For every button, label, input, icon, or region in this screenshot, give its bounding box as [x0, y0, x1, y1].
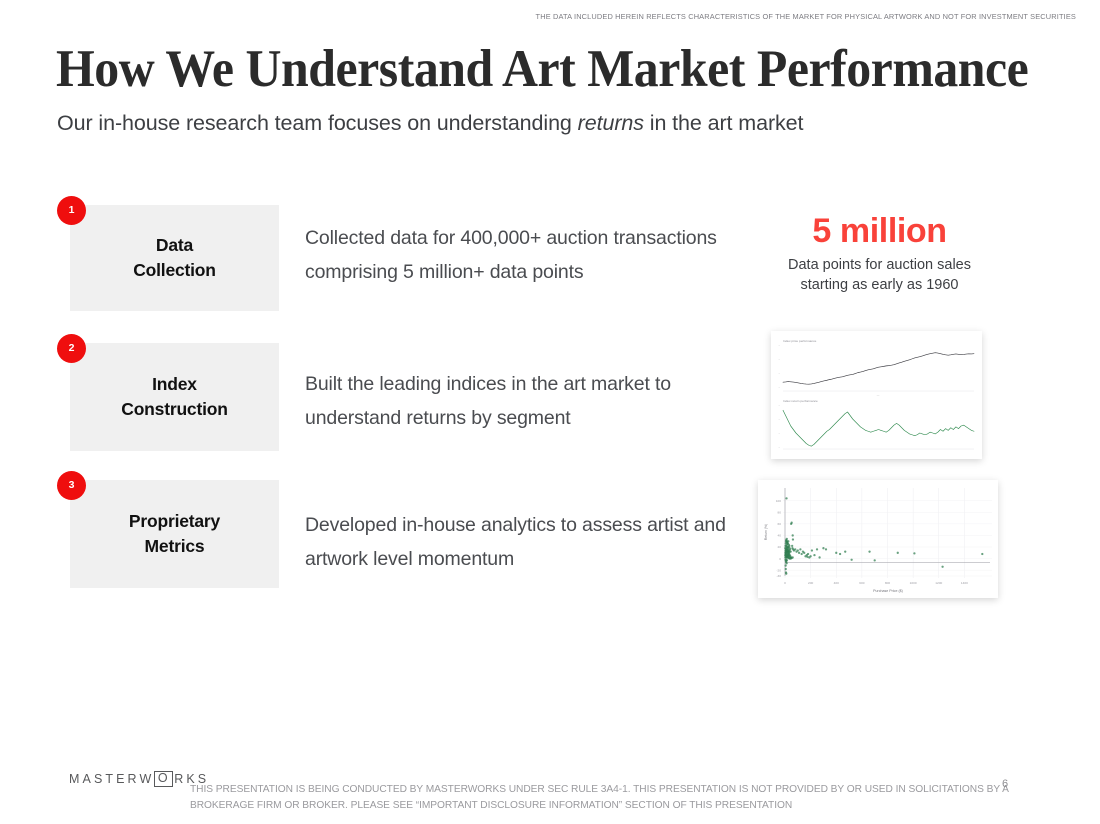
svg-text:60: 60 [778, 522, 782, 526]
step-label-box-1: Data Collection [70, 205, 279, 311]
svg-text:Purchase Price ($): Purchase Price ($) [873, 589, 903, 593]
step-badge-1: 1 [57, 196, 86, 225]
line-charts-svg: Index price performance Index return per… [771, 331, 982, 459]
step-label-box-2: Index Construction [70, 343, 279, 451]
subtitle-text-after: in the art market [644, 111, 804, 135]
step-body-2: Built the leading indices in the art mar… [305, 368, 757, 435]
svg-text:–: – [779, 446, 781, 449]
logo-boxed-o: O [154, 771, 173, 787]
subtitle-text-before: Our in-house research team focuses on un… [57, 111, 578, 135]
step-label-box-3: Proprietary Metrics [70, 480, 279, 588]
svg-text:0: 0 [779, 557, 781, 561]
returns-scatter-thumbnail: 0200400600800100012001400 -30-2002040608… [758, 480, 998, 598]
step-badge-3: 3 [57, 471, 86, 500]
svg-text:-20: -20 [777, 568, 782, 572]
svg-text:40: 40 [778, 534, 782, 538]
stat-value: 5 million [752, 212, 1007, 251]
index-line-charts-thumbnail: Index price performance Index return per… [771, 331, 982, 459]
step-body-3: Developed in-house analytics to assess a… [305, 509, 757, 576]
svg-text:–: – [779, 358, 781, 361]
svg-text:80: 80 [778, 510, 782, 514]
step-label-1: Data Collection [133, 233, 216, 284]
svg-text:–: – [779, 344, 781, 347]
page-number: 6 [1002, 778, 1008, 790]
page-subtitle: Our in-house research team focuses on un… [57, 110, 803, 138]
svg-text:—: — [877, 395, 880, 398]
svg-text:1000: 1000 [910, 581, 917, 585]
scatter-chart-svg: 0200400600800100012001400 -30-2002040608… [758, 480, 998, 598]
step-body-1: Collected data for 400,000+ auction tran… [305, 222, 757, 289]
svg-text:800: 800 [885, 581, 890, 585]
stat-caption: Data points for auction sales starting a… [752, 256, 1007, 295]
page-title: How We Understand Art Market Performance [56, 42, 1028, 98]
svg-text:100: 100 [776, 499, 781, 503]
svg-text:600: 600 [859, 581, 864, 585]
svg-text:–: – [779, 372, 781, 375]
step-label-3: Proprietary Metrics [129, 509, 220, 560]
slide: THE DATA INCLUDED HEREIN REFLECTS CHARAC… [0, 0, 1100, 824]
svg-text:0: 0 [784, 581, 786, 585]
svg-text:1200: 1200 [935, 581, 942, 585]
svg-text:Return (%): Return (%) [764, 524, 768, 540]
stat-callout: 5 million Data points for auction sales … [752, 212, 1007, 295]
svg-text:–: – [779, 404, 781, 407]
logo-text-part-1: MASTERW [69, 772, 154, 786]
svg-text:400: 400 [834, 581, 839, 585]
masterworks-logo: MASTERWORKS [69, 771, 209, 787]
top-disclaimer: THE DATA INCLUDED HEREIN REFLECTS CHARAC… [536, 12, 1076, 21]
svg-text:–: – [779, 386, 781, 389]
step-label-2: Index Construction [121, 372, 227, 423]
svg-text:-30: -30 [777, 574, 782, 578]
svg-text:Index price performance: Index price performance [783, 339, 817, 343]
svg-text:–: – [779, 418, 781, 421]
svg-text:1400: 1400 [961, 581, 968, 585]
footer-disclaimer: THIS PRESENTATION IS BEING CONDUCTED BY … [190, 782, 1048, 814]
svg-text:–: – [779, 432, 781, 435]
step-badge-2: 2 [57, 334, 86, 363]
subtitle-emphasis: returns [578, 111, 644, 135]
svg-text:20: 20 [778, 545, 782, 549]
svg-text:Index return performance: Index return performance [783, 399, 818, 403]
svg-text:200: 200 [808, 581, 813, 585]
